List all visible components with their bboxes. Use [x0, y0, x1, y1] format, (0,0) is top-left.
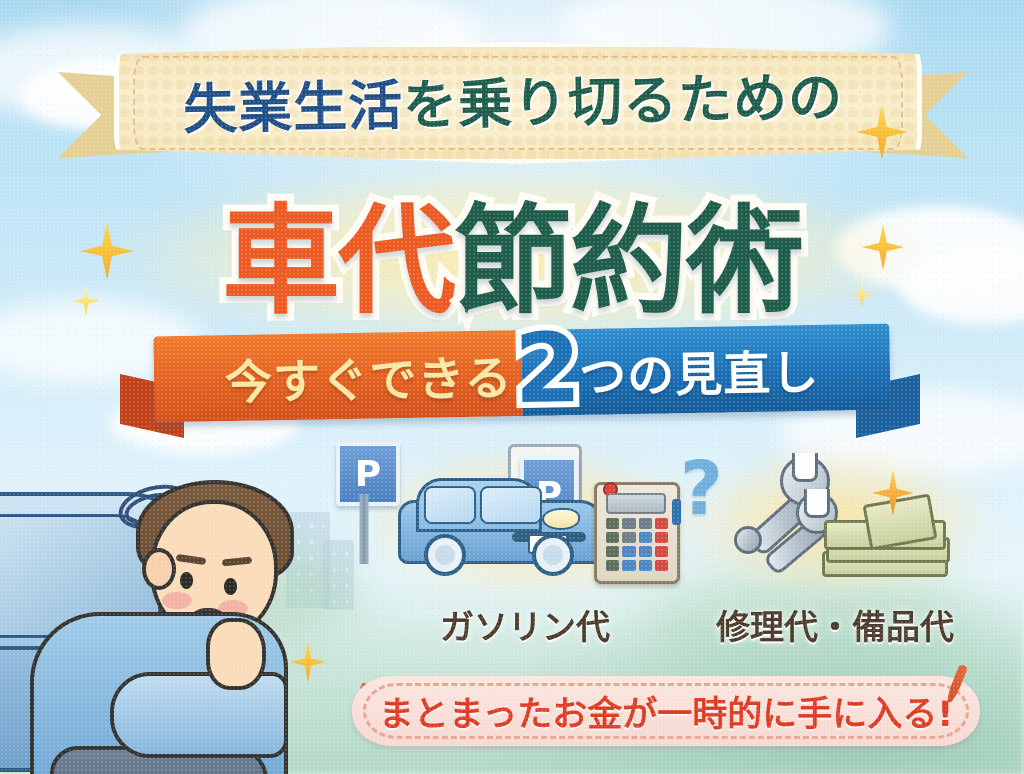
- calculator-key: [622, 546, 635, 557]
- worried-person-illustration: [0, 462, 320, 774]
- bottom-banner: まとまったお金が一時的に手に入る!: [352, 676, 980, 746]
- calculator-key: [655, 560, 668, 571]
- calculator-keypad: [606, 518, 668, 571]
- calculator-key: [622, 532, 635, 543]
- calculator-screen: [606, 493, 666, 514]
- car-window: [480, 486, 542, 524]
- calculator-key: [622, 518, 635, 529]
- parking-sign-icon: P: [336, 442, 392, 562]
- sub-banner: 今すぐできる 2 つの見直し: [120, 330, 920, 430]
- calculator-key: [606, 546, 619, 557]
- car-illustration: [398, 478, 598, 578]
- calculator-key: [639, 560, 652, 571]
- car-headlight: [542, 508, 580, 530]
- car-wheel: [532, 534, 574, 576]
- calculator-key: [655, 518, 668, 529]
- calculator-key: [655, 532, 668, 543]
- poster-canvas: 失業生活 を乗り切るための 車代 節約術 今すぐできる 2 つの見直し P: [0, 0, 1024, 774]
- person-eye: [224, 578, 237, 595]
- sign-pole: [360, 494, 369, 564]
- bottom-banner-text: まとまったお金が一時的に手に入る!: [379, 686, 954, 737]
- calculator-key: [639, 546, 652, 557]
- caption-gasoline: ガソリン代: [440, 600, 610, 649]
- car-wheel: [424, 534, 466, 576]
- car-window: [424, 486, 476, 524]
- money-stack-icon: [822, 505, 950, 577]
- top-banner-text-part1: 失業生活: [182, 61, 403, 144]
- top-banner-text: 失業生活 を乗り切るための: [113, 34, 913, 161]
- calculator-key: [639, 532, 652, 543]
- calculator-key: [655, 546, 668, 557]
- sub-banner-text: 今すぐできる 2 つの見直し: [153, 324, 890, 423]
- question-mark-icon: ?: [680, 446, 723, 532]
- calculator-key: [606, 560, 619, 571]
- sub-banner-right-text: つの見直し: [579, 333, 820, 406]
- top-banner-text-part2: を乗り切るための: [402, 52, 843, 139]
- top-banner: 失業生活 を乗り切るための: [58, 42, 968, 160]
- main-title-part1: 車代: [222, 165, 454, 336]
- calculator-key: [606, 532, 619, 543]
- calculator-key: [606, 518, 619, 529]
- sub-banner-left-text: 今すぐできる: [224, 339, 513, 413]
- caption-repair: 修理代・備品代: [716, 600, 954, 649]
- person-arm: [110, 672, 288, 758]
- calculator-icon: [594, 482, 680, 584]
- calculator-key: [639, 518, 652, 529]
- person-eye: [180, 572, 193, 589]
- calculator-key: [622, 560, 635, 571]
- person-hand: [206, 618, 266, 690]
- sub-banner-number: 2: [513, 312, 582, 425]
- main-title: 車代 節約術: [0, 168, 1024, 333]
- person-ear: [142, 548, 176, 590]
- main-title-part2: 節約術: [454, 165, 802, 336]
- person-cheek: [162, 592, 192, 609]
